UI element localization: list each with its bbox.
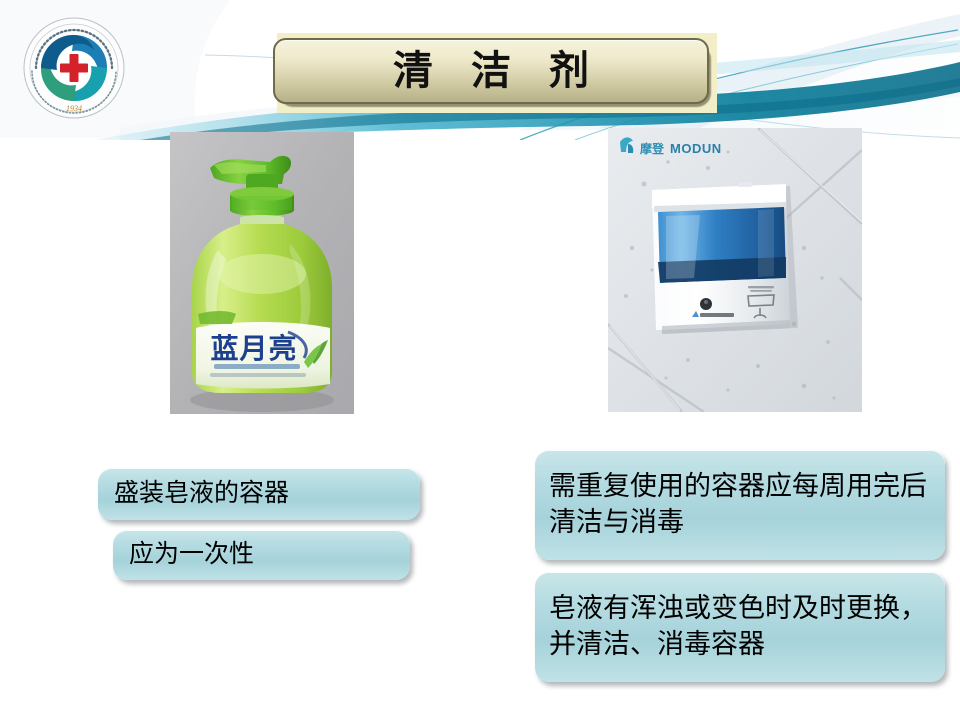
callout-left-2-text: 应为一次性 <box>129 541 254 569</box>
slide-title-box: 清 洁 剂 <box>273 38 709 104</box>
callout-right-2-text: 皂液有浑浊或变色时及时更换，并清洁、消毒容器 <box>549 591 935 662</box>
callout-left-1-text: 盛装皂液的容器 <box>114 480 289 508</box>
svg-text:1934: 1934 <box>66 104 82 113</box>
callout-right-2: 皂液有浑浊或变色时及时更换，并清洁、消毒容器 <box>535 572 945 682</box>
page-title: 清 洁 剂 <box>379 51 603 91</box>
callout-right-1-text: 需重复使用的容器应每周用完后清洁与消毒 <box>549 469 933 540</box>
svg-text:MODUN: MODUN <box>670 141 722 156</box>
callout-left-1: 盛装皂液的容器 <box>98 468 420 520</box>
callout-right-1: 需重复使用的容器应每周用完后清洁与消毒 <box>535 450 945 560</box>
callout-left-2: 应为一次性 <box>113 530 410 580</box>
wall-soap-dispenser-photo: 摩登 MODUN <box>608 128 862 412</box>
soap-bottle-photo: 蓝月亮 <box>170 132 354 414</box>
presentation-slide: 1934 清 洁 剂 <box>0 0 960 720</box>
svg-text:摩登: 摩登 <box>640 141 665 156</box>
hospital-logo: 1934 <box>22 16 126 120</box>
svg-text:蓝月亮: 蓝月亮 <box>210 332 297 365</box>
